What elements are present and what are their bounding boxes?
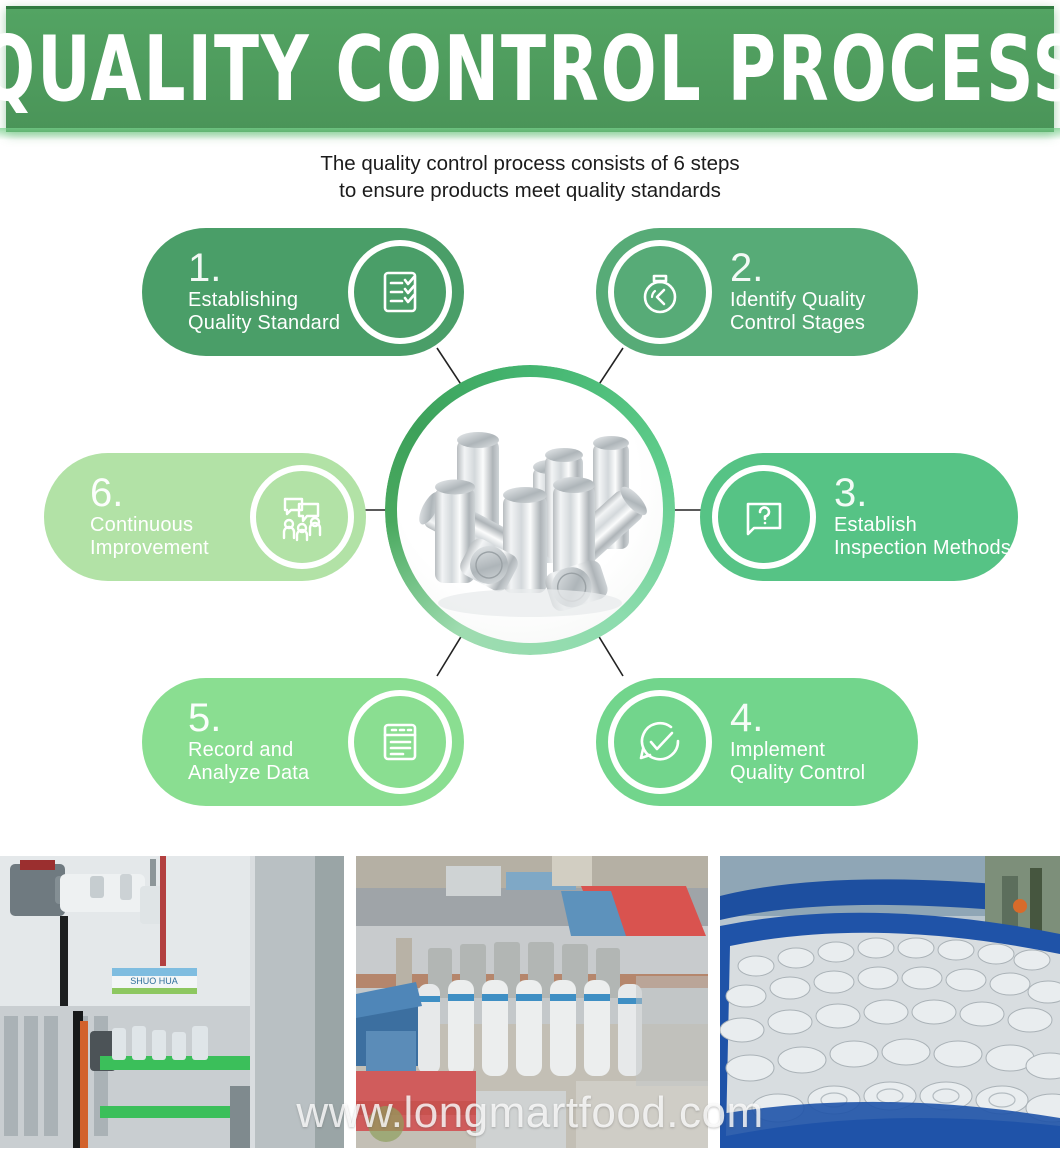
step-5-text: 5. Record and Analyze Data — [188, 699, 309, 785]
step-3-number: 3. — [834, 474, 1011, 512]
step-1-label: Establishing Quality Standard — [188, 289, 340, 335]
center-hub — [385, 365, 675, 655]
page-title: QUALITY CONTROL PROCESS — [0, 26, 1060, 116]
step-2-number: 2. — [730, 249, 866, 287]
check-circle-icon — [608, 690, 712, 794]
process-diagram: 1. Establishing Quality Standard 2. Iden… — [0, 210, 1060, 830]
step-card-3[interactable]: 3. Establish Inspection Methods — [700, 453, 1018, 581]
step-3-text: 3. Establish Inspection Methods — [834, 474, 1011, 560]
step-2-label: Identify Quality Control Stages — [730, 289, 866, 335]
step-4-label: Implement Quality Control — [730, 739, 865, 785]
step-5-number: 5. — [188, 699, 309, 737]
center-image — [397, 377, 663, 643]
step-4-text: 4. Implement Quality Control — [730, 699, 865, 785]
step-4-number: 4. — [730, 699, 865, 737]
step-3-label: Establish Inspection Methods — [834, 514, 1011, 560]
factory-aerial-tanks-photo — [356, 856, 708, 1148]
header-glow — [0, 128, 1060, 140]
checklist-icon — [348, 240, 452, 344]
canning-line-machine-photo: SHUO HUA — [0, 856, 344, 1148]
stopwatch-icon — [608, 240, 712, 344]
step-6-number: 6. — [90, 474, 209, 512]
document-icon — [348, 690, 452, 794]
step-card-1[interactable]: 1. Establishing Quality Standard — [142, 228, 464, 356]
step-card-5[interactable]: 5. Record and Analyze Data — [142, 678, 464, 806]
step-1-number: 1. — [188, 249, 340, 287]
conveyor-cans-photo — [720, 856, 1060, 1148]
discussion-icon — [250, 465, 354, 569]
step-6-label: Continuous Improvement — [90, 514, 209, 560]
aluminum-cans-illustration — [397, 377, 663, 643]
step-card-2[interactable]: 2. Identify Quality Control Stages — [596, 228, 918, 356]
question-speech-icon — [712, 465, 816, 569]
subtitle-line-1: The quality control process consists of … — [0, 150, 1060, 177]
subtitle-line-2: to ensure products meet quality standard… — [0, 177, 1060, 204]
step-card-4[interactable]: 4. Implement Quality Control — [596, 678, 918, 806]
subtitle: The quality control process consists of … — [0, 150, 1060, 204]
step-1-text: 1. Establishing Quality Standard — [188, 249, 340, 335]
svg-text:SHUO HUA: SHUO HUA — [130, 976, 178, 986]
step-2-text: 2. Identify Quality Control Stages — [730, 249, 866, 335]
step-6-text: 6. Continuous Improvement — [90, 474, 209, 560]
header-banner: QUALITY CONTROL PROCESS — [6, 6, 1054, 132]
step-card-6[interactable]: 6. Continuous Improvement — [44, 453, 366, 581]
photo-strip: SHUO HUA — [0, 856, 1060, 1156]
step-5-label: Record and Analyze Data — [188, 739, 309, 785]
